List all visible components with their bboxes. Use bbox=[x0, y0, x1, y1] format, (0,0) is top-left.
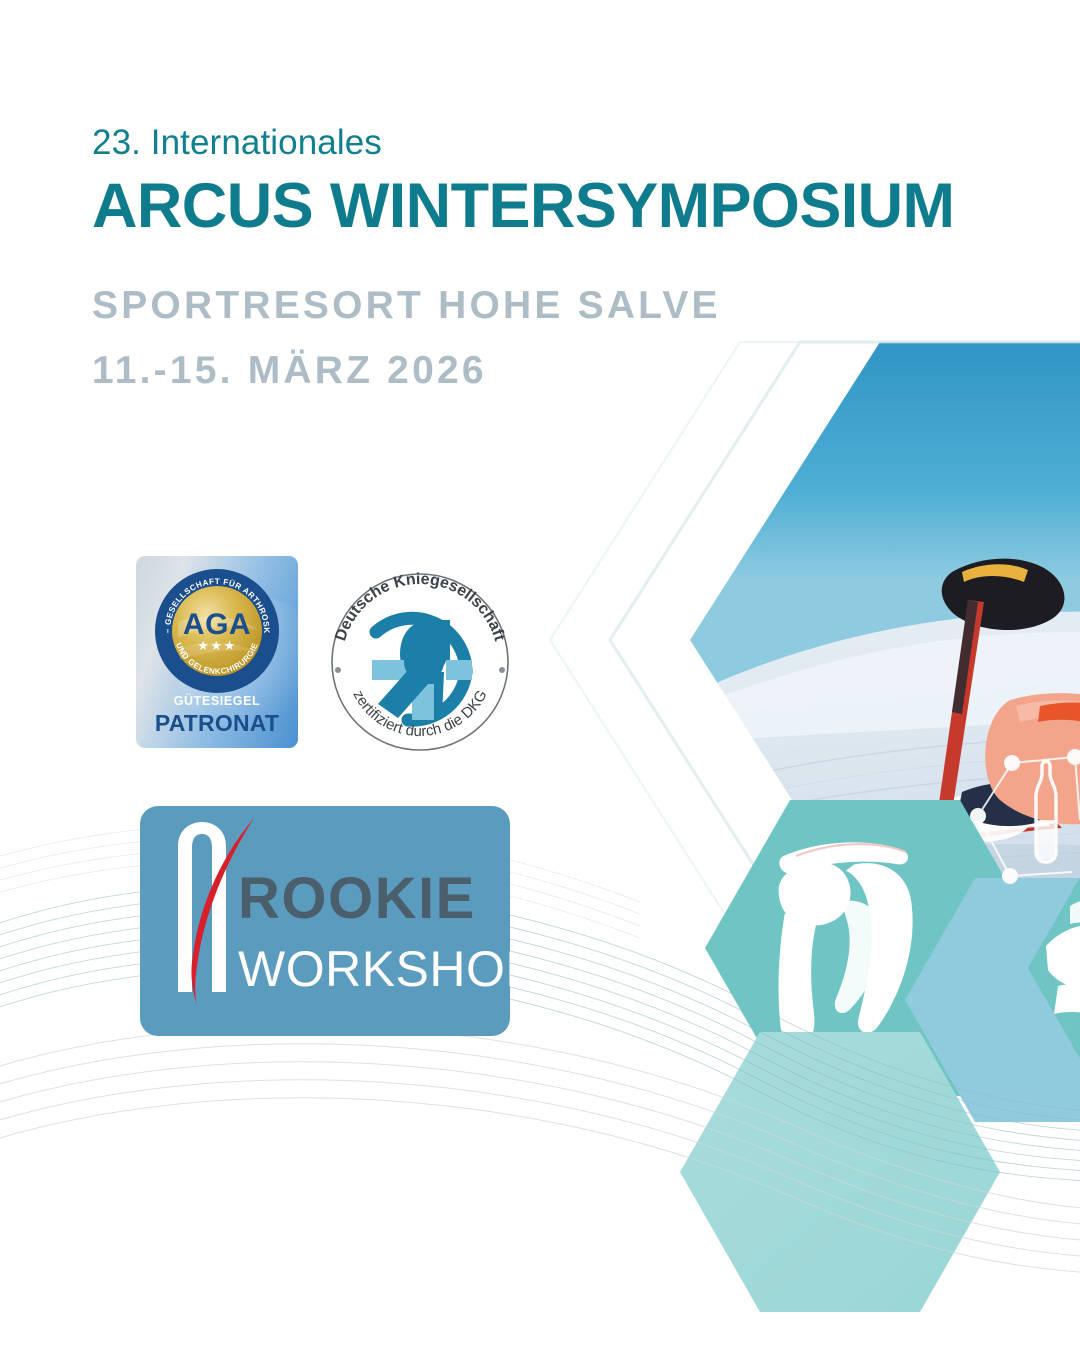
skier-photo-hexagon bbox=[680, 330, 1080, 950]
ampoule-vial-icon bbox=[1036, 762, 1056, 863]
rookie-workshops-logo: ROOKIE WORKSHOPS bbox=[140, 806, 510, 1036]
poster-canvas: 23. Internationales ARCUS WINTERSYMPOSIU… bbox=[0, 0, 1080, 1350]
swoosh-lines-lower bbox=[0, 1026, 1080, 1274]
venue-line: SPORTRESORT HOHE SALVE bbox=[92, 284, 721, 327]
dkg-badge: Deutsche Kniegesellschaft zertifiziert d… bbox=[320, 562, 520, 762]
hexagon-knee bbox=[1028, 846, 1080, 1090]
hexagon-pale-bottom bbox=[680, 1032, 1000, 1312]
rookie-wordmark: ROOKIE bbox=[238, 866, 476, 931]
event-title: ARCUS WINTERSYMPOSIUM bbox=[92, 174, 954, 238]
aga-badge: AGA – GESELLSCHAFT FÜR ARTHROSKOPIE UND … bbox=[136, 556, 298, 748]
poster-header: 23. Internationales ARCUS WINTERSYMPOSIU… bbox=[92, 124, 954, 399]
event-details: SPORTRESORT HOHE SALVE 11.-15. MÄRZ 2026 bbox=[92, 278, 954, 399]
hexagon-shoulder bbox=[705, 800, 1045, 1096]
aga-badge-caption: GÜTESIEGEL PATRONAT bbox=[136, 695, 298, 736]
svg-text:AGA: AGA bbox=[183, 608, 251, 641]
dates-line: 11.-15. MÄRZ 2026 bbox=[92, 343, 954, 398]
event-kicker: 23. Internationales bbox=[92, 124, 954, 162]
ghost-hexagon-outline bbox=[610, 342, 1080, 938]
ski bbox=[752, 806, 1062, 886]
aga-seal-icon: AGA – GESELLSCHAFT FÜR ARTHROSKOPIE UND … bbox=[154, 568, 280, 694]
svg-text:★★★: ★★★ bbox=[197, 638, 236, 653]
aga-guetesiegel-label: GÜTESIEGEL bbox=[136, 695, 298, 709]
aga-patronat-label: PATRONAT bbox=[136, 710, 298, 736]
ski-pole-icon bbox=[178, 822, 226, 992]
workshops-wordmark: WORKSHOPS bbox=[238, 941, 510, 997]
molecule-node-graphic bbox=[970, 749, 1080, 884]
hexagon-accent-blue bbox=[905, 878, 1080, 1122]
certification-badges: AGA – GESELLSCHAFT FÜR ARTHROSKOPIE UND … bbox=[136, 556, 520, 762]
